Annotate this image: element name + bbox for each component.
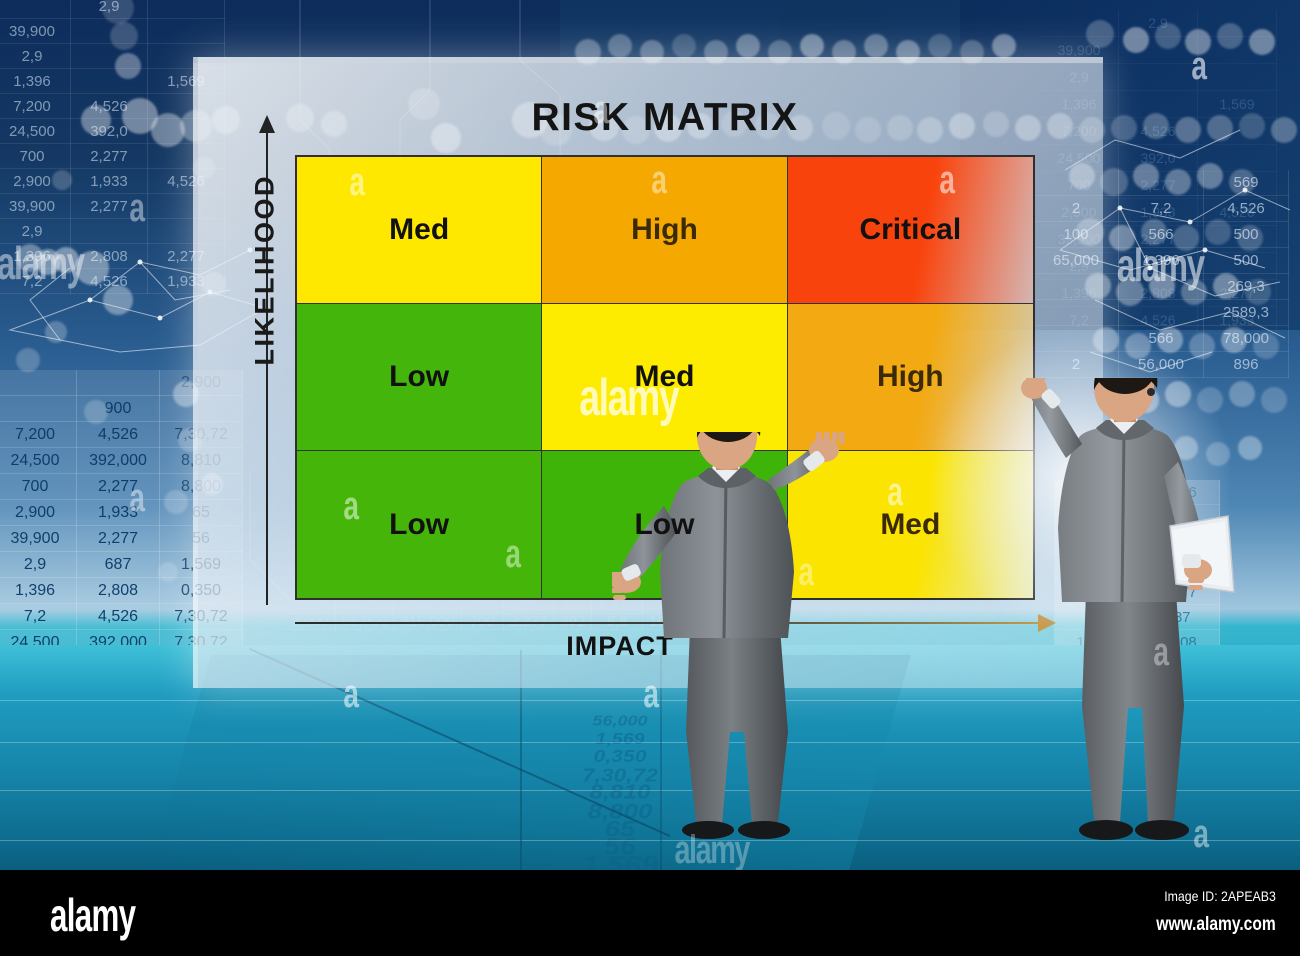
- matrix-cell-low-r2c0[interactable]: Low: [297, 451, 542, 598]
- background-scene: 2,939,9002,91,3961,5697,2004,52624,50039…: [0, 0, 1300, 870]
- cell-label: Critical: [859, 213, 961, 247]
- bokeh-dot: [103, 285, 133, 315]
- bokeh-dot: [110, 22, 138, 50]
- bokeh-dot: [1207, 115, 1233, 141]
- bokeh-dot: [1249, 29, 1275, 55]
- matrix-cell-low-r1c0[interactable]: Low: [297, 304, 542, 451]
- bokeh-dot: [928, 34, 952, 58]
- matrix-cell-med-r1c1[interactable]: Med: [542, 304, 787, 451]
- bokeh-dot: [1149, 273, 1175, 299]
- cell-label: Low: [389, 360, 449, 394]
- bokeh-dot: [736, 34, 760, 58]
- cell-label: Low: [389, 508, 449, 542]
- matrix-cell-critical-r0c2[interactable]: Critical: [788, 157, 1033, 304]
- bokeh-dot: [1157, 327, 1183, 353]
- bokeh-dot: [800, 34, 824, 58]
- bokeh-dot: [115, 53, 141, 79]
- bokeh-dot: [75, 251, 109, 285]
- bokeh-dot: [1100, 168, 1128, 196]
- screenshot-root: 2,939,9002,91,3961,5697,2004,52624,50039…: [0, 0, 1300, 956]
- cell-label: Med: [634, 360, 694, 394]
- bokeh-dot: [1133, 163, 1159, 189]
- bokeh-dot: [1185, 29, 1211, 55]
- cell-label: High: [877, 360, 944, 394]
- alamy-glyph-watermark: a: [129, 476, 145, 521]
- bokeh-dot: [1143, 113, 1169, 139]
- alamy-url[interactable]: www.alamy.com: [1156, 914, 1276, 936]
- bokeh-dot: [164, 490, 188, 514]
- businessman-right: [1020, 378, 1270, 850]
- matrix-cell-med-r0c0[interactable]: Med: [297, 157, 542, 304]
- bokeh-dot: [1155, 23, 1181, 49]
- cell-label: Med: [389, 213, 449, 247]
- bokeh-dot: [608, 34, 632, 58]
- bokeh-dot: [1245, 279, 1271, 305]
- bokeh-dot: [1237, 225, 1263, 251]
- bokeh-dot: [52, 170, 72, 190]
- bokeh-dot: [864, 34, 888, 58]
- bokeh-dot: [1205, 219, 1231, 245]
- bokeh-dot: [1116, 278, 1144, 306]
- businessman-center: [612, 432, 872, 852]
- cell-label: Med: [880, 508, 940, 542]
- matrix-cell-high-r0c1[interactable]: High: [542, 157, 787, 304]
- bokeh-dot: [672, 34, 696, 58]
- matrix-cell-high-r1c2[interactable]: High: [788, 304, 1033, 451]
- alamy-glyph-watermark: a: [129, 186, 145, 231]
- bokeh-dot: [1123, 27, 1149, 53]
- bokeh-dot: [16, 348, 40, 372]
- risk-matrix-grid[interactable]: Med High Critical Low Med High Low Low M…: [295, 155, 1035, 600]
- alamy-logo: alamy: [50, 888, 135, 942]
- bokeh-dot: [1141, 219, 1167, 245]
- bokeh-dot: [1111, 115, 1137, 141]
- bokeh-dot: [1189, 333, 1215, 359]
- bokeh-dot: [1229, 169, 1255, 195]
- bokeh-dot: [1181, 279, 1207, 305]
- bokeh-dot: [81, 105, 111, 135]
- bokeh-dot: [1165, 169, 1191, 195]
- alamy-footer-bar: alamy Image ID: 2APEAB3 www.alamy.com: [0, 870, 1300, 956]
- bokeh-dot: [1109, 225, 1135, 251]
- arrow-up-icon: [259, 115, 275, 133]
- bokeh-dot: [1125, 333, 1151, 359]
- bokeh-dot: [1175, 117, 1201, 143]
- bokeh-dot: [1217, 23, 1243, 49]
- bokeh-dot: [1253, 333, 1279, 359]
- likelihood-axis-label: LIKELIHOOD: [250, 176, 281, 366]
- bokeh-dot: [1086, 20, 1114, 48]
- bokeh-dot: [1213, 273, 1239, 299]
- bokeh-dot: [102, 0, 134, 24]
- cell-label: High: [631, 213, 698, 247]
- bokeh-dot: [45, 321, 67, 343]
- bokeh-dot: [992, 34, 1016, 58]
- bokeh-dot: [1239, 113, 1265, 139]
- bokeh-dot: [1221, 327, 1247, 353]
- image-id-text: Image ID: 2APEAB3: [1164, 888, 1276, 904]
- page-title: RISK MATRIX: [295, 96, 1035, 140]
- bokeh-dot: [158, 562, 178, 582]
- bokeh-dot: [1271, 117, 1297, 143]
- bokeh-dot: [1197, 163, 1223, 189]
- cell-label: Low: [634, 508, 694, 542]
- bokeh-dot: [1173, 225, 1199, 251]
- bokeh-dot: [84, 400, 108, 424]
